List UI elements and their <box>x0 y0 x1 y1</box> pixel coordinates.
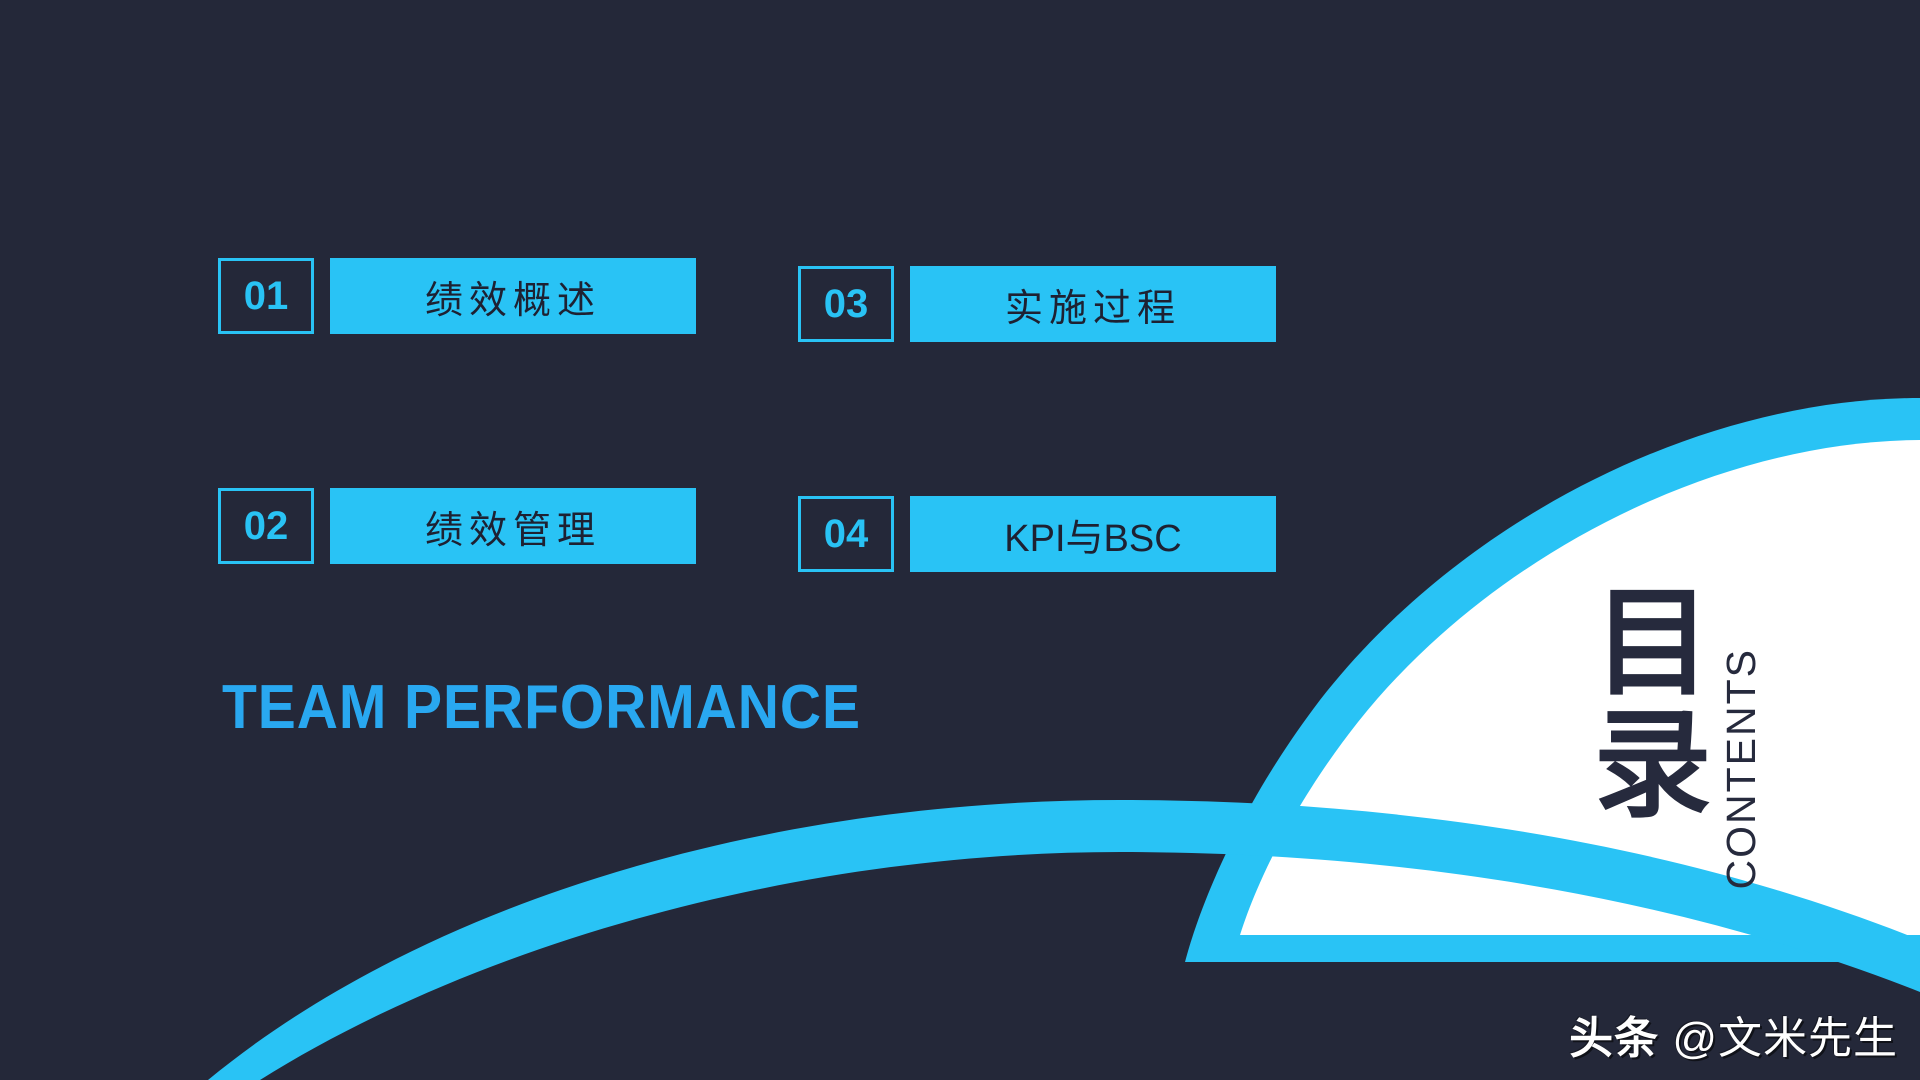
menu-label-01: 绩效概述 <box>330 258 696 334</box>
menu-item-04[interactable]: 04 KPI与BSC <box>798 496 1276 572</box>
menu-label-02: 绩效管理 <box>330 488 696 564</box>
menu-number-02: 02 <box>218 488 314 564</box>
page-title-english: TEAM PERFORMANCE <box>222 672 861 743</box>
menu-item-01[interactable]: 01 绩效概述 <box>218 258 696 334</box>
menu-label-04: KPI与BSC <box>910 496 1276 572</box>
menu-label-03: 实施过程 <box>910 266 1276 342</box>
contents-heading: 目录 CONTENTS <box>1590 580 1830 940</box>
watermark-handle: @文米先生 <box>1672 1014 1898 1063</box>
menu-number-04: 04 <box>798 496 894 572</box>
menu-item-02[interactable]: 02 绩效管理 <box>218 488 696 564</box>
menu-number-01: 01 <box>218 258 314 334</box>
menu-number-03: 03 <box>798 266 894 342</box>
contents-heading-english: CONTENTS <box>1718 648 1765 890</box>
watermark: 头条 @文米先生 <box>1569 1002 1898 1066</box>
contents-heading-chinese: 目录 <box>1590 580 1710 824</box>
menu-item-03[interactable]: 03 实施过程 <box>798 266 1276 342</box>
slide-canvas: 01 绩效概述 03 实施过程 02 绩效管理 04 KPI与BSC TEAM … <box>0 0 1920 1080</box>
watermark-platform: 头条 <box>1569 1014 1659 1063</box>
